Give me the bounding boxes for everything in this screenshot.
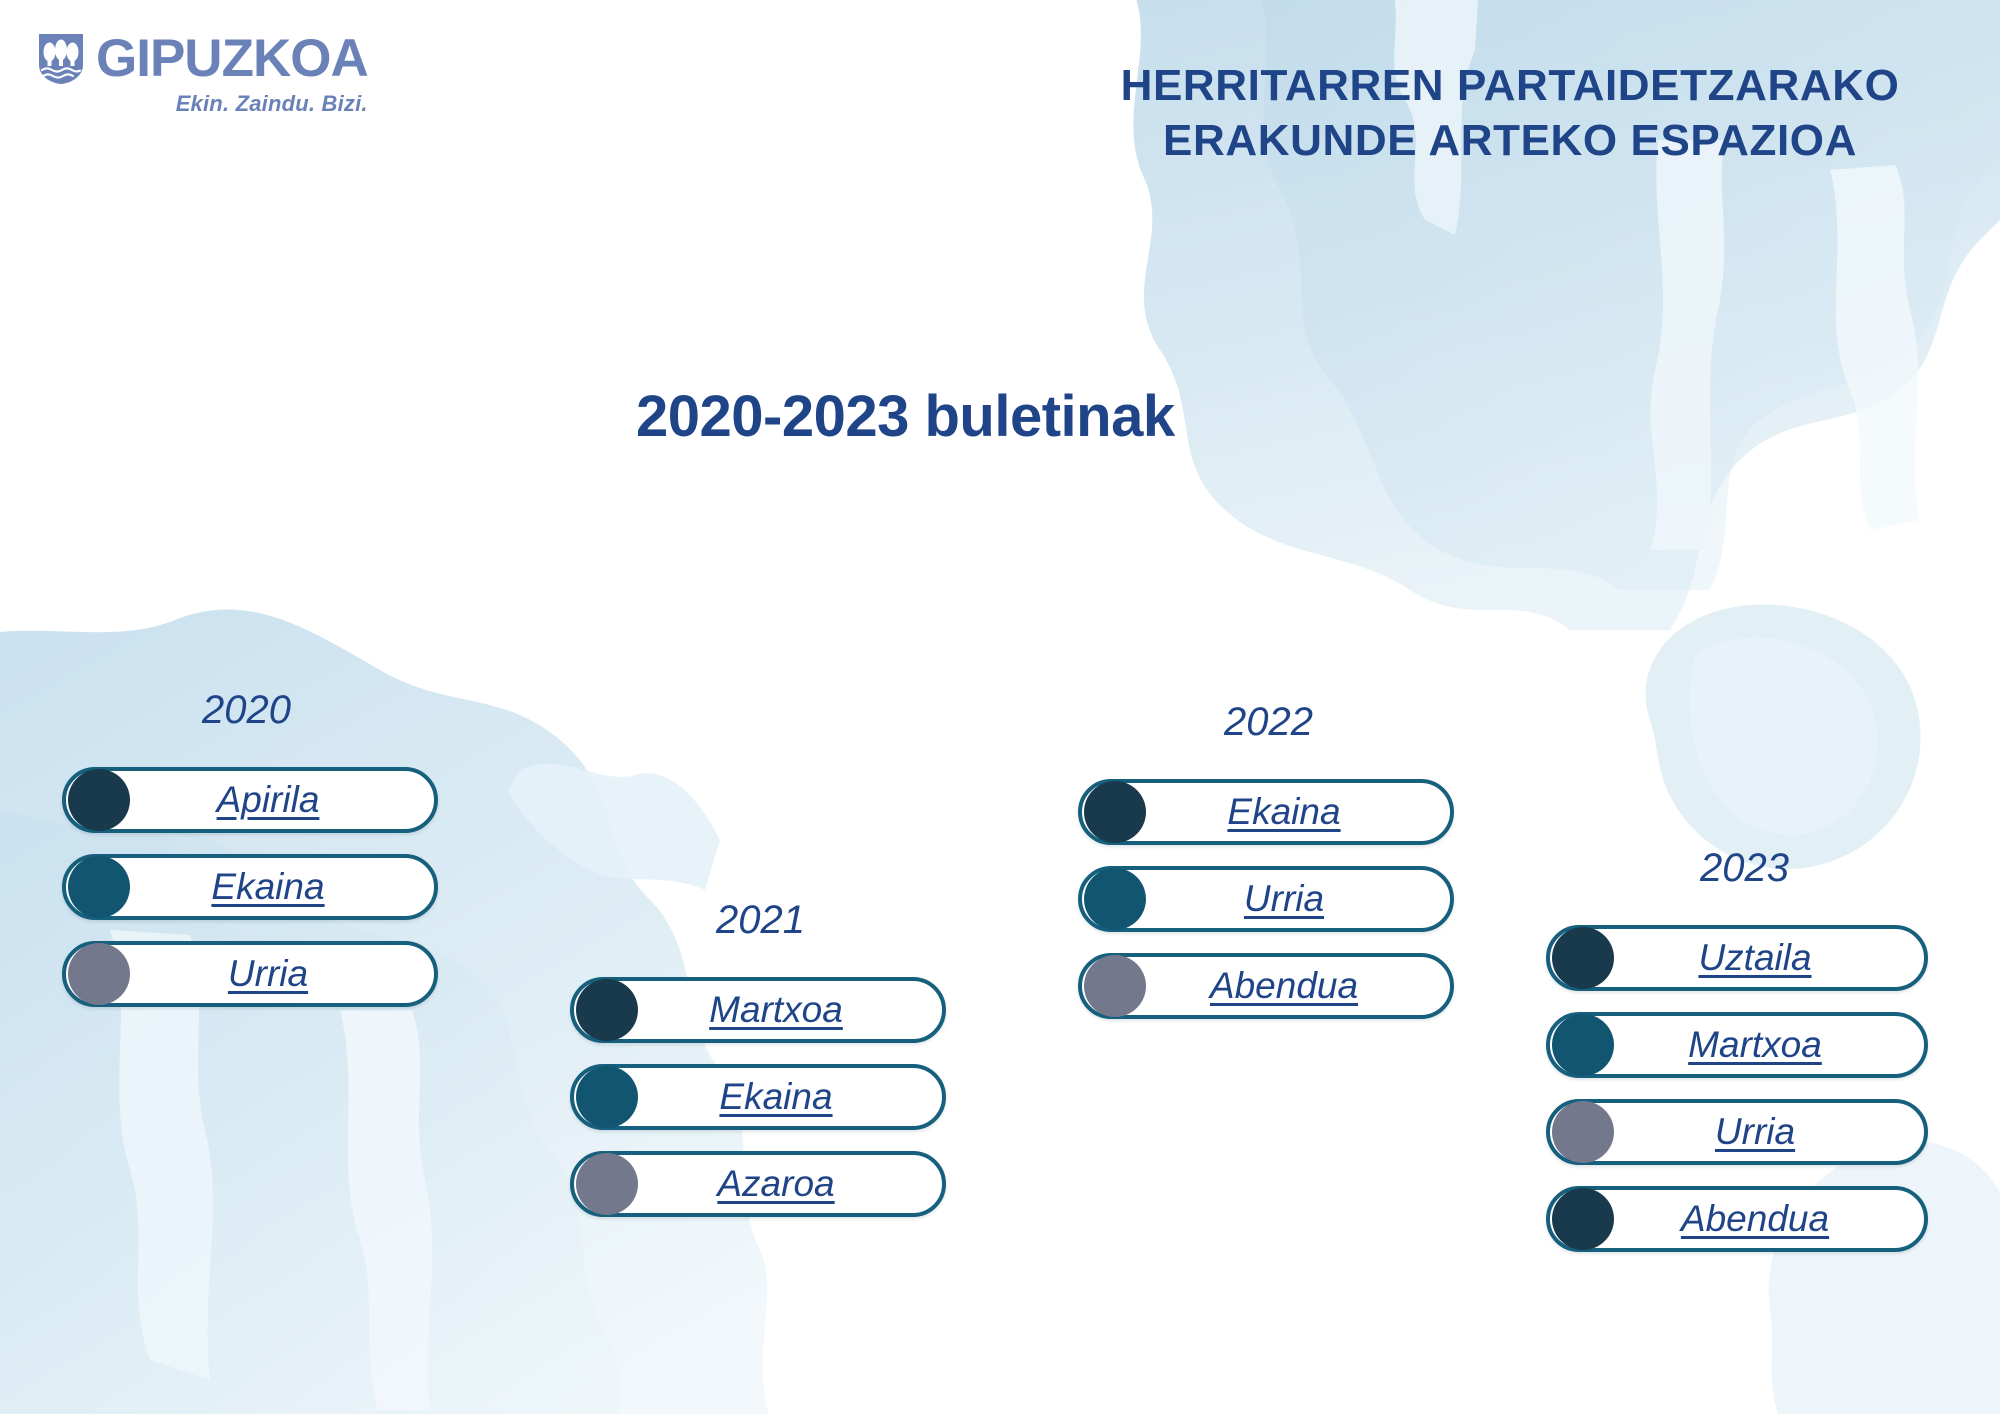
bulletin-pill[interactable]: Urria — [1078, 866, 1454, 932]
bullet-dot-icon — [1552, 1101, 1614, 1163]
logo-row: GIPUZKOA — [38, 32, 368, 85]
logo-wordmark: GIPUZKOA — [96, 32, 368, 85]
bulletin-pill[interactable]: Ekaina — [570, 1064, 946, 1130]
bullet-dot-icon — [576, 1153, 638, 1215]
year-group-2023: 2023 Uztaila Martxoa Urria Abendua — [1546, 846, 1928, 1252]
gipuzkoa-shield-icon — [38, 33, 84, 85]
slide-canvas: GIPUZKOA Ekin. Zaindu. Bizi. HERRITARREN… — [0, 0, 2000, 1414]
year-label-2022: 2022 — [1224, 700, 1454, 745]
bulletin-pill[interactable]: Urria — [62, 941, 438, 1007]
bullet-dot-icon — [68, 769, 130, 831]
year-label-2023: 2023 — [1700, 846, 1928, 891]
header-title-line-2: ERAKUNDE ARTEKO ESPAZIOA — [1060, 113, 1960, 168]
bullet-dot-icon — [1552, 1188, 1614, 1250]
brand-logo[interactable]: GIPUZKOA Ekin. Zaindu. Bizi. — [38, 32, 368, 117]
year-label-2020: 2020 — [202, 688, 438, 733]
bullet-dot-icon — [576, 1066, 638, 1128]
bulletin-pill[interactable]: Martxoa — [1546, 1012, 1928, 1078]
bulletin-pill[interactable]: Abendua — [1546, 1186, 1928, 1252]
bulletin-pill[interactable]: Abendua — [1078, 953, 1454, 1019]
bullet-dot-icon — [68, 943, 130, 1005]
bullet-dot-icon — [1084, 868, 1146, 930]
bullet-dot-icon — [576, 979, 638, 1041]
bulletin-pill[interactable]: Azaroa — [570, 1151, 946, 1217]
bullet-dot-icon — [68, 856, 130, 918]
bullet-dot-icon — [1084, 955, 1146, 1017]
bulletin-pill[interactable]: Martxoa — [570, 977, 946, 1043]
bullet-dot-icon — [1552, 927, 1614, 989]
bulletin-pill[interactable]: Apirila — [62, 767, 438, 833]
year-group-2021: 2021 Martxoa Ekaina Azaroa — [570, 898, 946, 1217]
bulletin-pill[interactable]: Urria — [1546, 1099, 1928, 1165]
page-title: 2020-2023 buletinak — [636, 383, 1175, 450]
bulletin-pill[interactable]: Uztaila — [1546, 925, 1928, 991]
logo-tagline: Ekin. Zaindu. Bizi. — [176, 91, 368, 117]
bulletin-pill[interactable]: Ekaina — [62, 854, 438, 920]
bulletin-pill[interactable]: Ekaina — [1078, 779, 1454, 845]
bullet-dot-icon — [1552, 1014, 1614, 1076]
header-title-line-1: HERRITARREN PARTAIDETZARAKO — [1060, 58, 1960, 113]
year-group-2022: 2022 Ekaina Urria Abendua — [1078, 700, 1454, 1019]
header-title: HERRITARREN PARTAIDETZARAKO ERAKUNDE ART… — [1060, 58, 1960, 168]
year-label-2021: 2021 — [716, 898, 946, 943]
bullet-dot-icon — [1084, 781, 1146, 843]
year-group-2020: 2020 Apirila Ekaina Urria — [62, 688, 438, 1007]
